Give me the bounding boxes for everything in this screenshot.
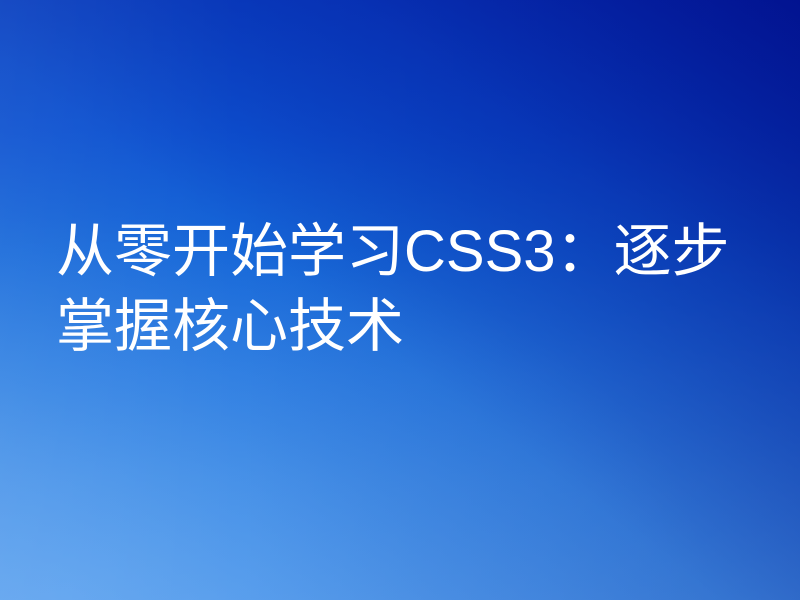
title-banner: 从零开始学习CSS3：逐步 掌握核心技术: [0, 0, 800, 600]
title-line-2: 掌握核心技术: [56, 289, 756, 364]
page-title: 从零开始学习CSS3：逐步 掌握核心技术: [56, 214, 756, 364]
title-line-1: 从零开始学习CSS3：逐步: [56, 214, 756, 289]
